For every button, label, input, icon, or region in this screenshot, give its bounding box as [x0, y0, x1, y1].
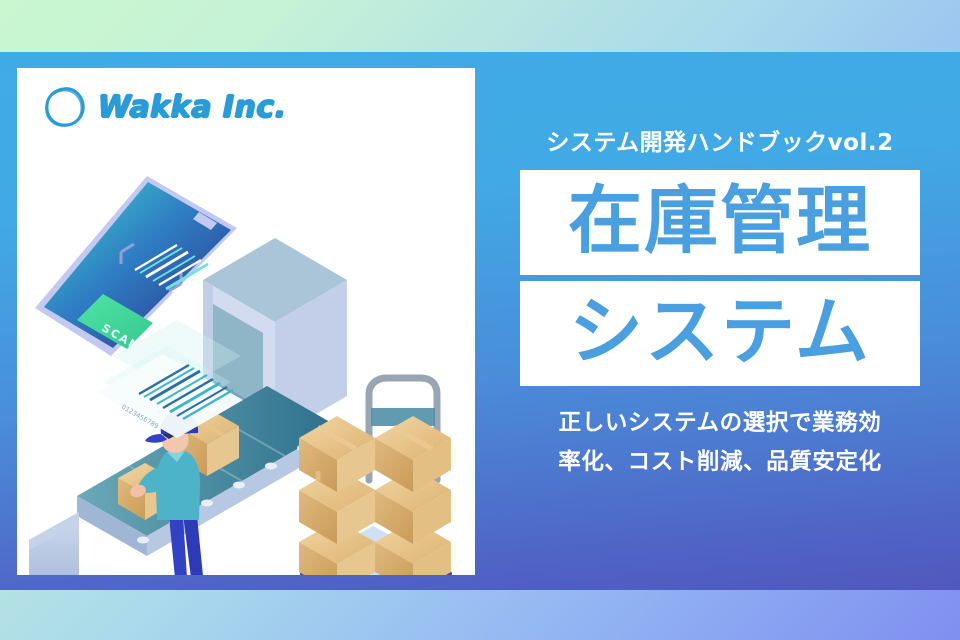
poster: 0123456789	[0, 0, 960, 640]
hand-drawn-ring-icon	[42, 84, 88, 130]
hero-subtitle-line2: 率化、コスト削減、品質安定化	[558, 443, 881, 482]
warehouse-illustration: 0123456789	[17, 108, 475, 575]
hero-subtitle-line1: 正しいシステムの選択で業務効	[559, 404, 882, 443]
hero-text-column: システム開発ハンドブックvol.2 在庫管理 システム 正しいシステムの選択で業…	[495, 52, 945, 590]
illustration-card: 0123456789	[17, 68, 475, 575]
hero-kicker: システム開発ハンドブックvol.2	[546, 132, 893, 155]
cardboard-boxes-stack	[299, 416, 451, 575]
brand-logo[interactable]: Wakka Inc.	[42, 84, 287, 130]
brand-logo-text: Wakka Inc.	[98, 90, 287, 125]
hero-title-line2: システム	[520, 281, 920, 386]
hero-title-line1: 在庫管理	[520, 170, 920, 275]
